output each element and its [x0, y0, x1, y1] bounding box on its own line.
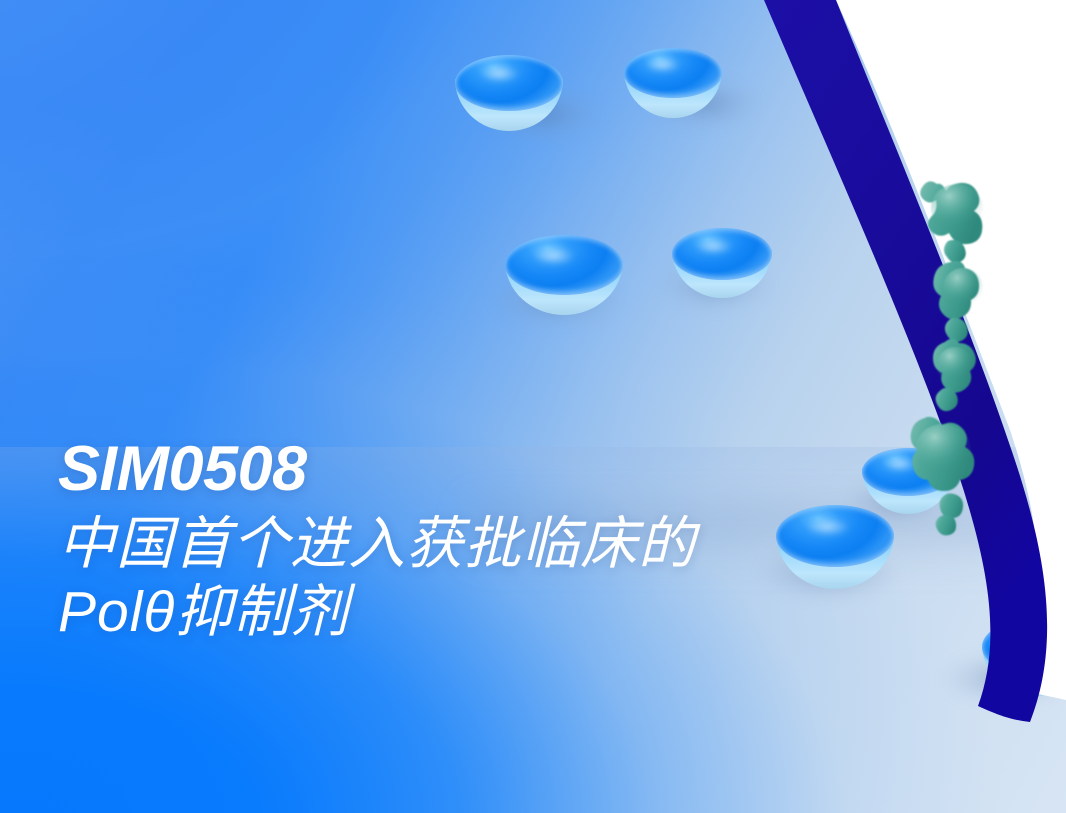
page-title: SIM0508 — [58, 438, 838, 501]
subtitle-line-2: Polθ抑制剂 — [58, 581, 838, 645]
subtitle-line-1: 中国首个进入获批临床的 — [58, 513, 838, 577]
protein-surface-svg — [885, 150, 1015, 580]
polymerase-theta-protein-3d-model — [885, 150, 1015, 580]
hero-banner: SIM0508 中国首个进入获批临床的 Polθ抑制剂 — [0, 0, 1066, 813]
hero-text-block: SIM0508 中国首个进入获批临床的 Polθ抑制剂 — [58, 438, 838, 645]
protein-blobs — [911, 181, 983, 535]
